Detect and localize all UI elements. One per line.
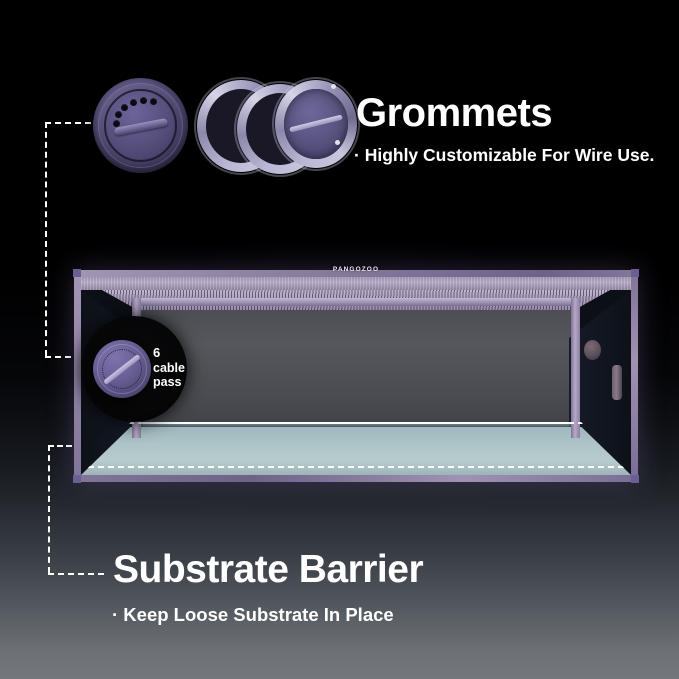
callout-line-1: cable — [153, 361, 185, 375]
grommet-hole — [140, 97, 147, 104]
grommet-ring-lip — [272, 77, 360, 171]
bar-vent-icon — [612, 365, 622, 400]
grommet-hole — [150, 98, 157, 105]
grommet-hole — [121, 104, 128, 111]
enclosure-corner — [73, 269, 81, 277]
enclosure-right-mullion — [571, 298, 580, 438]
grommet-hole — [115, 111, 122, 118]
callout-count: 6 — [153, 346, 185, 361]
enclosure-corner — [631, 269, 639, 277]
connector-substrate-vertical — [48, 445, 50, 573]
round-port-icon — [584, 340, 601, 360]
grommet-hole — [113, 120, 120, 127]
substrate-bullet-text: · Keep Loose Substrate In Place — [112, 604, 394, 626]
grommet-ring-notch — [335, 140, 340, 145]
grommet-plug-slot — [113, 118, 167, 136]
connector-substrate-bottom — [48, 573, 104, 575]
substrate-barrier-outline — [88, 422, 624, 468]
cable-pass-callout: 6 cable pass — [81, 316, 187, 422]
brand-logo: PANGOZOO — [333, 266, 379, 273]
grommet-plug-icon — [93, 78, 188, 173]
substrate-heading: Substrate Barrier — [113, 548, 423, 592]
callout-text: 6 cable pass — [153, 346, 185, 389]
connector-grommets-vertical — [45, 122, 47, 356]
grommet-illustration-group — [85, 66, 350, 181]
grommet-ring-plug-icon — [275, 80, 357, 168]
callout-grommet-icon — [93, 340, 151, 398]
enclosure-back-wall — [136, 306, 576, 433]
enclosure-corner — [631, 475, 639, 483]
callout-line-2: pass — [153, 375, 185, 389]
enclosure-corner — [73, 475, 81, 483]
grommet-ring-notch — [331, 84, 336, 89]
grommet-hole — [130, 99, 137, 106]
grommets-heading: Grommets — [356, 91, 552, 136]
grommets-bullet-text: · Highly Customizable For Wire Use. — [354, 145, 654, 166]
promo-image-canvas: Grommets · Highly Customizable For Wire … — [0, 0, 679, 679]
enclosure-mesh-lid — [81, 277, 631, 290]
enclosure-top-rail — [132, 298, 580, 306]
